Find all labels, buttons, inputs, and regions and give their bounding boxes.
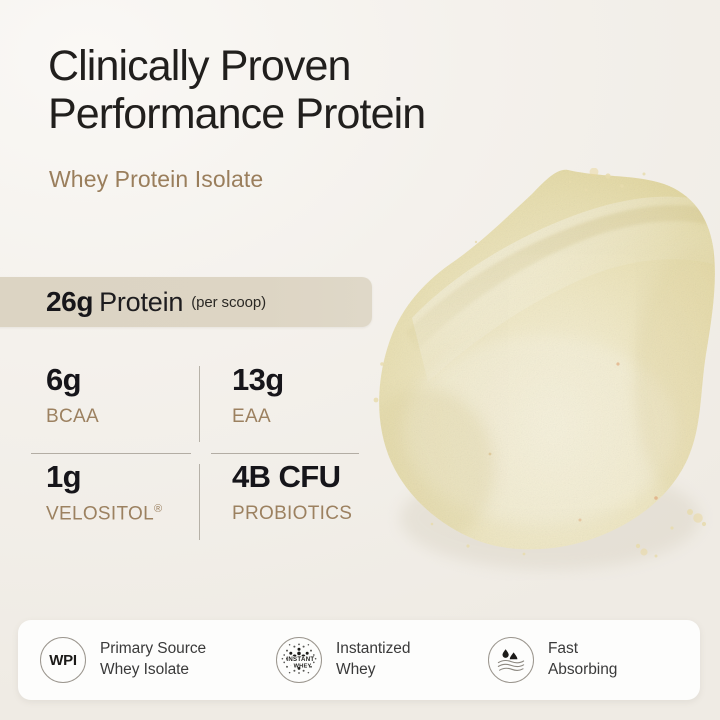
stat-label: PROBIOTICS (232, 503, 382, 525)
protein-highlight-bar: 26g Protein (per scoop) (0, 277, 372, 327)
feature-line-1: Fast (548, 639, 617, 660)
page-subtitle: Whey Protein Isolate (49, 166, 263, 193)
feature-text: Primary Source Whey Isolate (100, 639, 206, 681)
feature-instantized-whey: INSTANT WHEY Instantized Whey (276, 620, 488, 700)
stat-value: 13g (232, 364, 382, 397)
title-line-1: Clinically Proven (48, 42, 351, 90)
stat-cell-bcaa: 6g BCAA (46, 364, 196, 428)
stat-cell-velositol: 1g VELOSITOL® (46, 461, 196, 525)
stat-label: BCAA (46, 406, 196, 428)
svg-text:WHEY: WHEY (294, 663, 312, 669)
stat-label: EAA (232, 406, 382, 428)
feature-primary-source: WPI Primary Source Whey Isolate (18, 620, 276, 700)
registered-trademark-symbol: ® (154, 503, 162, 515)
wpi-badge-label: WPI (49, 652, 76, 669)
stat-label-text: VELOSITOL (46, 503, 154, 524)
feature-line-2: Whey (336, 660, 410, 681)
stat-cell-eaa: 13g EAA (232, 364, 382, 428)
title-line-2: Performance Protein (48, 90, 608, 138)
feature-text: Instantized Whey (336, 639, 410, 681)
nutrition-stats-grid: 6g BCAA 13g EAA 1g VELOSITOL® 4B CFU PRO… (46, 364, 358, 540)
feature-line-2: Whey Isolate (100, 660, 206, 681)
protein-amount: 26g (46, 286, 93, 318)
feature-highlights-card: WPI Primary Source Whey Isolate (18, 620, 700, 700)
wpi-badge-icon: WPI (40, 637, 86, 683)
stat-label-text: EAA (232, 406, 271, 427)
svg-text:INSTANT: INSTANT (286, 656, 314, 663)
infographic-canvas: Clinically Proven Performance Protein Wh… (0, 0, 720, 720)
page-title: Clinically Proven Performance Protein (48, 42, 608, 138)
feature-text: Fast Absorbing (548, 639, 617, 681)
feature-line-1: Primary Source (100, 639, 206, 660)
divider-vertical-bottom (199, 464, 200, 540)
stat-label: VELOSITOL® (46, 503, 196, 525)
stat-label-text: PROBIOTICS (232, 503, 352, 524)
feature-line-2: Absorbing (548, 660, 617, 681)
stat-value: 1g (46, 461, 196, 494)
feature-line-1: Instantized (336, 639, 410, 660)
feature-fast-absorbing: Fast Absorbing (488, 620, 693, 700)
instant-whey-burst-icon: INSTANT WHEY (276, 637, 322, 683)
divider-horizontal-right (211, 453, 359, 454)
stat-value: 4B CFU (232, 461, 382, 494)
divider-horizontal-left (31, 453, 191, 454)
stat-value: 6g (46, 364, 196, 397)
protein-label: Protein (99, 287, 183, 318)
protein-serving-note: (per scoop) (191, 294, 266, 311)
stat-cell-probiotics: 4B CFU PROBIOTICS (232, 461, 382, 525)
divider-vertical-top (199, 366, 200, 442)
whey-protein-powder-scoop-photo (372, 168, 720, 583)
stat-label-text: BCAA (46, 406, 99, 427)
water-droplet-absorb-icon (488, 637, 534, 683)
